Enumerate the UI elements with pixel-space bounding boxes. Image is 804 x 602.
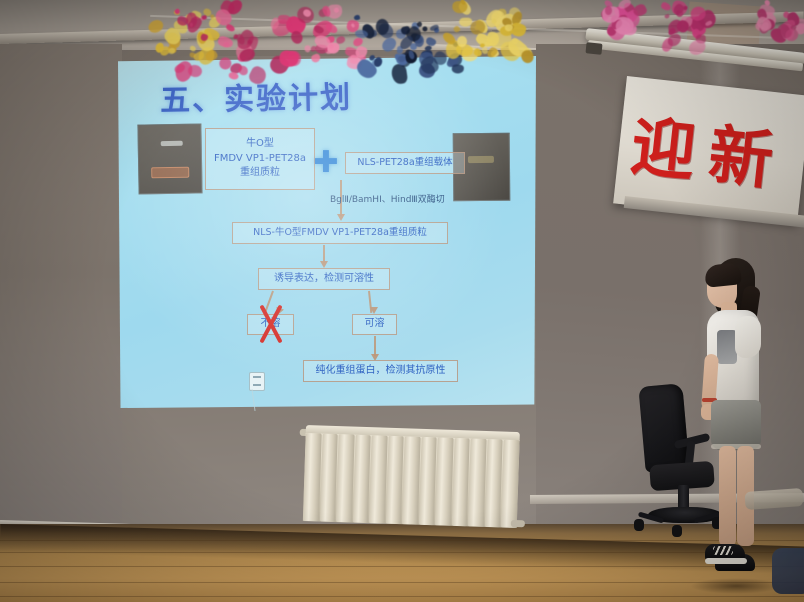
radiator xyxy=(303,425,520,536)
radiator-fin xyxy=(352,435,370,523)
tinsel-piece xyxy=(397,55,405,61)
flow-box-plasmid-line1: 牛O型 xyxy=(246,137,274,152)
plasmid-gene-label xyxy=(151,167,189,179)
chair-caster xyxy=(634,519,644,531)
enzyme-digest-label: BglⅡ/BamHⅠ、HindⅢ双酶切 xyxy=(330,192,445,205)
radiator-pipe-right xyxy=(511,520,525,527)
light-end-cap xyxy=(585,42,602,55)
shorts-hem xyxy=(711,444,761,449)
tinsel-piece xyxy=(375,19,388,35)
radiator-fin xyxy=(435,437,453,525)
floor-plank xyxy=(0,552,804,553)
chair-backrest xyxy=(638,383,689,473)
plasmid-marker xyxy=(161,141,183,146)
radiator-fin xyxy=(336,434,354,522)
radiator-fin xyxy=(485,439,503,527)
arrow-head-1 xyxy=(337,214,345,221)
outlet-holes xyxy=(253,376,261,386)
flow-box-plasmid-line2: FMDV VP1-PET28a xyxy=(214,152,306,167)
flow-box-plasmid-line3: 重组质粒 xyxy=(240,166,280,181)
radiator-fin xyxy=(319,434,337,522)
floor-plank xyxy=(0,566,804,567)
floor-plank xyxy=(0,582,804,583)
floor-plank xyxy=(0,596,804,597)
flow-box-plasmid: 牛O型 FMDV VP1-PET28a 重组质粒 xyxy=(205,128,315,190)
radiator-fin xyxy=(402,436,420,524)
shoe-sole xyxy=(705,558,747,564)
left-wall xyxy=(0,44,122,554)
radiator-fin xyxy=(369,435,387,523)
tshirt-sleeve xyxy=(735,316,761,358)
tinsel-piece xyxy=(304,45,311,53)
flow-box-soluble: 可溶 xyxy=(352,314,397,335)
grey-shorts xyxy=(711,400,761,450)
flow-box-express: 诱导表达，检测可溶性 xyxy=(258,268,390,290)
radiator-fin xyxy=(468,438,486,526)
hair-front xyxy=(704,262,742,288)
tinsel-piece xyxy=(289,25,293,31)
plus-icon: ✚ xyxy=(312,150,340,178)
radiator-fins xyxy=(303,433,520,528)
radiator-fin xyxy=(303,433,321,521)
arrow-head-right xyxy=(370,307,378,314)
red-x-mark-icon xyxy=(251,305,291,343)
tinsel-piece xyxy=(219,57,232,70)
tinsel-piece xyxy=(278,15,291,25)
shoe-laces xyxy=(713,546,733,555)
radiator-fin xyxy=(418,437,436,525)
arrow-head-2 xyxy=(320,261,328,268)
classroom-photo: 迎新 五、实验计划 牛O型 FMDV VP1-PET28a 重组质粒 ✚ NLS… xyxy=(0,0,804,602)
radiator-fin xyxy=(501,440,519,528)
plasmid-marker xyxy=(468,156,494,163)
standing-presenter xyxy=(697,258,775,588)
radiator-fin xyxy=(385,436,403,524)
foreground-object xyxy=(772,548,804,594)
person-shadow xyxy=(690,578,782,594)
radiator-fin xyxy=(452,438,470,526)
tshirt-graphic xyxy=(717,330,737,364)
tinsel-piece xyxy=(605,6,612,15)
leg xyxy=(719,446,736,546)
plasmid-map-image-left xyxy=(137,123,202,194)
flow-box-recombinant: NLS-牛O型FMDV VP1-PET28a重组质粒 xyxy=(232,222,448,244)
flow-box-vector: NLS-PET28a重组载体 xyxy=(345,152,465,174)
flow-box-purify: 纯化重组蛋白，检测其抗原性 xyxy=(303,360,458,382)
arrow-vertical-3 xyxy=(374,336,376,356)
chair-caster xyxy=(672,525,682,537)
